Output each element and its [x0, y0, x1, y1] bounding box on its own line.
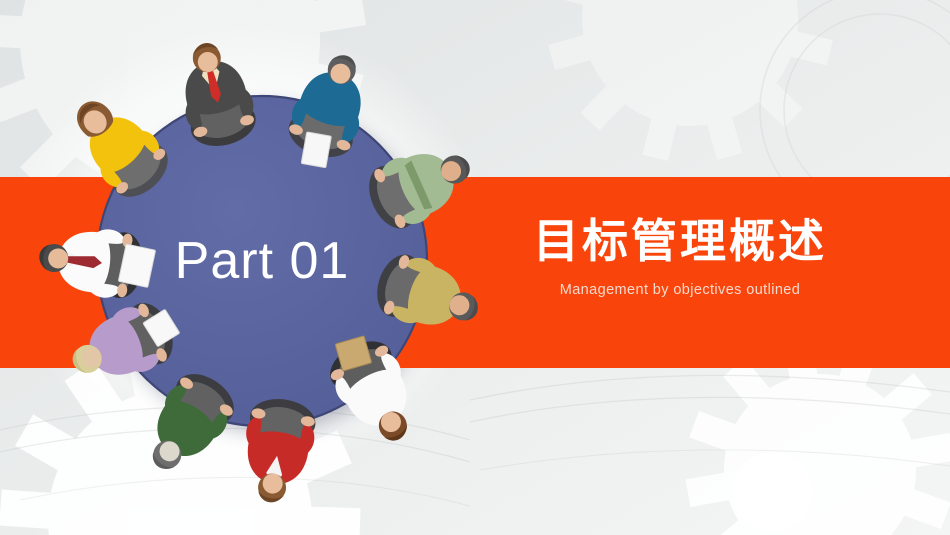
section-title-block: 目标管理概述 Management by objectives outlined [470, 214, 890, 298]
presentation-slide: Part 01 目标管理概述 Management by objectives … [0, 0, 950, 535]
gear-hub-circle [733, 452, 813, 532]
section-subtitle-en: Management by objectives outlined [470, 282, 890, 298]
section-title-cn: 目标管理概述 [470, 214, 890, 268]
